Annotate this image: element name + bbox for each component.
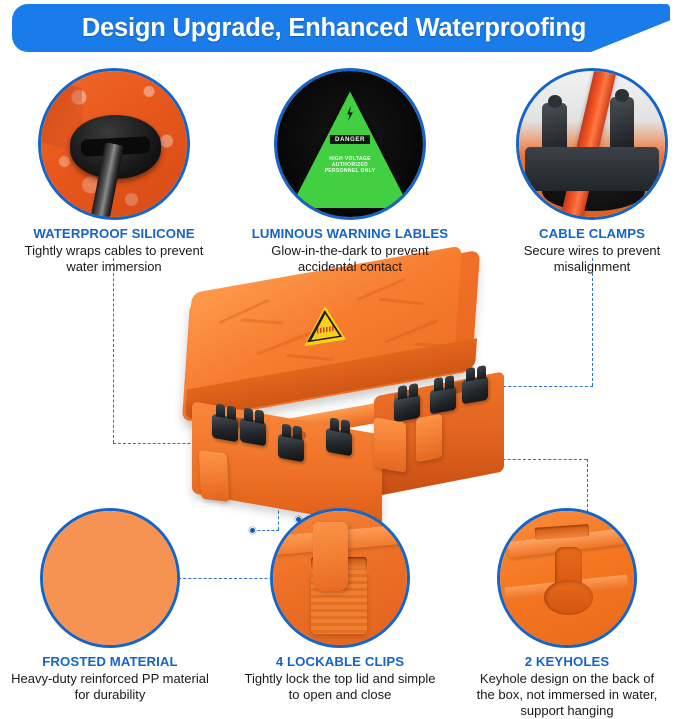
callout-description-line1: Tightly wraps cables to prevent [4, 243, 224, 259]
cable-clamp [240, 418, 266, 447]
keyhole-opening [555, 547, 582, 593]
callout-frosted-material: FROSTED MATERIAL Heavy-duty reinforced P… [0, 508, 222, 703]
cable-clamp [394, 394, 420, 423]
callout-title: CABLE CLAMPS [481, 226, 679, 241]
callout-title: 4 LOCKABLE CLIPS [226, 654, 454, 669]
header-banner: Design Upgrade, Enhanced Waterproofing [12, 4, 670, 52]
callout-description-line1: Keyhole design on the back of [455, 671, 679, 687]
callout-description-line1: Glow-in-the-dark to prevent [238, 243, 462, 259]
callout-description-line2: water immersion [4, 259, 224, 275]
callout-title: WATERPROOF SILICONE [4, 226, 224, 241]
callout-photo-frosted-material [40, 508, 180, 648]
lockable-clip-side [416, 414, 442, 463]
callout-description-line3: support hanging [455, 703, 679, 719]
cable-clamp [462, 376, 488, 405]
cable-clamp [326, 428, 352, 457]
cable-clamp [212, 414, 238, 443]
product-warning-triangle-label [304, 306, 346, 343]
callout-description-line2: for durability [0, 687, 222, 703]
photo-keyhole [500, 511, 634, 645]
callout-luminous-warning-labels: DANGER HIGH VOLTAGE AUTHORIZED PERSONNEL… [238, 68, 462, 275]
callout-title: FROSTED MATERIAL [0, 654, 222, 669]
clip-tab [313, 522, 348, 592]
callout-photo-lockable-clips [270, 508, 410, 648]
photo-latch-clip [273, 511, 407, 645]
photo-frosted-surface [43, 511, 177, 645]
callout-description-line2: accidental contact [238, 259, 462, 275]
callout-description-line2: the box, not immersed in water, [455, 687, 679, 703]
callout-description-line2: misalignment [481, 259, 679, 275]
danger-subtext: HIGH VOLTAGE AUTHORIZED PERSONNEL ONLY [325, 156, 376, 175]
leader-line-silicone-vertical [113, 258, 114, 443]
photo-cable-gland [41, 71, 187, 217]
lockable-clip-left [199, 450, 229, 502]
product-image-waterproof-box [178, 268, 528, 526]
callout-photo-cable-clamps [516, 68, 668, 220]
callout-title: LUMINOUS WARNING LABLES [238, 226, 462, 241]
cable-clamp [278, 434, 304, 463]
callout-photo-keyholes [497, 508, 637, 648]
cable-clamp [430, 386, 456, 415]
leader-line-clamps-vertical [592, 258, 593, 386]
page-title: Design Upgrade, Enhanced Waterproofing [12, 4, 670, 52]
danger-subtext-line2: AUTHORIZED [325, 162, 376, 168]
callout-photo-waterproof-silicone [38, 68, 190, 220]
callout-description-line1: Heavy-duty reinforced PP material [0, 671, 222, 687]
callout-lockable-clips: 4 LOCKABLE CLIPS Tightly lock the top li… [226, 508, 454, 703]
danger-headline: DANGER [330, 135, 370, 144]
photo-cable-clamps [519, 71, 665, 217]
callout-photo-luminous-warning: DANGER HIGH VOLTAGE AUTHORIZED PERSONNEL… [274, 68, 426, 220]
photo-glowing-danger-label: DANGER HIGH VOLTAGE AUTHORIZED PERSONNEL… [277, 71, 423, 217]
callout-description-line1: Tightly lock the top lid and simple [226, 671, 454, 687]
callout-keyholes: 2 KEYHOLES Keyhole design on the back of… [455, 508, 679, 719]
clamp-base [525, 147, 659, 191]
callout-description-line1: Secure wires to prevent [481, 243, 679, 259]
callout-description-line2: to open and close [226, 687, 454, 703]
callout-title: 2 KEYHOLES [455, 654, 679, 669]
lockable-clip-front [374, 417, 406, 473]
callout-waterproof-silicone: WATERPROOF SILICONE Tightly wraps cables… [4, 68, 224, 275]
callout-cable-clamps: CABLE CLAMPS Secure wires to prevent mis… [481, 68, 679, 275]
danger-subtext-line3: PERSONNEL ONLY [325, 168, 376, 174]
